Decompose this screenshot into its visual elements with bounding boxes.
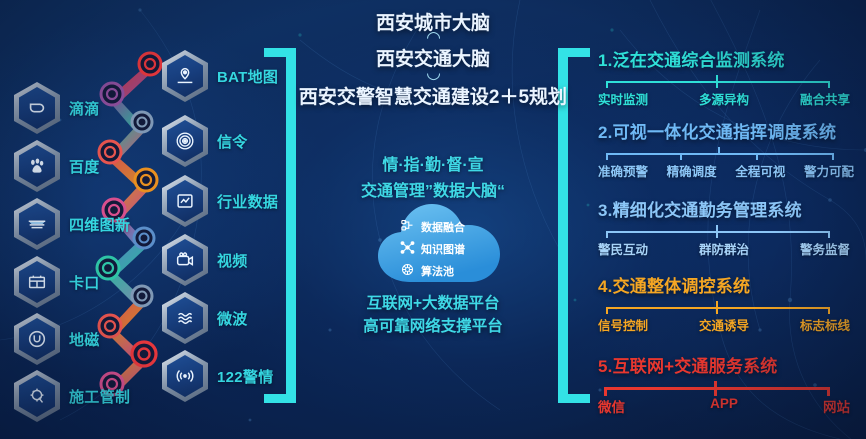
source-item-construction[interactable]: 施工管制 xyxy=(14,370,130,422)
sub-label: 网站 xyxy=(823,396,850,416)
system-name-1: 泛在交通综合监测系统 xyxy=(613,51,785,70)
algorithm-pool-icon xyxy=(400,262,415,277)
system-title-4: 4.交通整体调控系统 xyxy=(598,272,853,297)
sub-label: 精确调度 xyxy=(667,161,717,180)
video-camera-icon xyxy=(162,234,208,286)
system-subs-1: 实时监测 多源异构 融合共享 xyxy=(598,89,850,108)
source-item-122-alarm[interactable]: 122警情 xyxy=(162,350,274,402)
cloud-label-2: 算法池 xyxy=(421,263,454,279)
source-label: 信令 xyxy=(217,131,248,152)
system-number-4: 4. xyxy=(598,277,613,296)
system-name-4: 交通整体调控系统 xyxy=(613,277,751,296)
source-item-navinfo[interactable]: 四维图新 xyxy=(14,198,130,250)
connector-bracket-2 xyxy=(598,147,856,160)
connector-bracket-4 xyxy=(598,301,853,314)
connector-bracket-3 xyxy=(598,225,853,238)
sub-label: 交通诱导 xyxy=(699,315,749,334)
system-title-1: 1.泛在交通综合监测系统 xyxy=(598,46,853,71)
source-label: 四维图新 xyxy=(69,214,130,235)
system-name-3: 精细化交通勤务管理系统 xyxy=(613,201,802,220)
system-title-3: 3.精细化交通勤务管理系统 xyxy=(598,196,853,221)
knowledge-graph-icon xyxy=(400,240,415,255)
sub-label: 警力可配 xyxy=(804,161,854,180)
system-subs-3: 警民互动 群防群治 警务监督 xyxy=(598,239,850,258)
sub-label: 警民互动 xyxy=(598,239,648,258)
system-item-4[interactable]: 4.交通整体调控系统 信号控制 交通诱导 标志标线 xyxy=(598,272,853,334)
system-subs-4: 信号控制 交通诱导 标志标线 xyxy=(598,315,850,334)
source-item-video[interactable]: 视频 xyxy=(162,234,248,286)
cloud-label-0: 数据融合 xyxy=(421,219,465,235)
system-number-3: 3. xyxy=(598,201,613,220)
connector-bracket-1 xyxy=(598,75,853,88)
system-subs-5: 微信 APP 网站 xyxy=(598,396,850,416)
system-item-5[interactable]: 5.互联网+交通服务系统 微信 APP 网站 xyxy=(598,352,853,416)
navinfo-map-icon xyxy=(14,198,60,250)
sub-label: 准确预警 xyxy=(598,161,648,180)
cloud-label-1: 知识图谱 xyxy=(421,241,465,257)
system-name-5: 互联网+交通服务系统 xyxy=(613,357,778,376)
sub-label: 多源异构 xyxy=(699,89,749,108)
system-item-2[interactable]: 2.可视一体化交通指挥调度系统 准确预警 精确调度 全程可视 警力可配 xyxy=(598,118,856,180)
system-subs-2: 准确预警 精确调度 全程可视 警力可配 xyxy=(598,161,854,180)
system-number-1: 1. xyxy=(598,51,613,70)
system-title-2: 2.可视一体化交通指挥调度系统 xyxy=(598,118,856,143)
data-fusion-icon xyxy=(400,218,415,233)
infographic-canvas: 滴滴 百度 四维图新 卡口 地磁 施工管制 xyxy=(0,0,866,439)
sub-label: 群防群治 xyxy=(699,239,749,258)
sub-label: 实时监测 xyxy=(598,89,648,108)
source-label: 视频 xyxy=(217,250,248,271)
construction-control-icon xyxy=(14,370,60,422)
system-number-5: 5. xyxy=(598,357,613,376)
sub-label: 标志标线 xyxy=(800,315,850,334)
source-label: 122警情 xyxy=(217,366,274,387)
sub-label: APP xyxy=(710,396,738,416)
source-label: 卡口 xyxy=(69,272,100,293)
system-item-1[interactable]: 1.泛在交通综合监测系统 实时监测 多源异构 融合共享 xyxy=(598,46,853,108)
sub-label: 融合共享 xyxy=(800,89,850,108)
sub-label: 微信 xyxy=(598,396,625,416)
sub-label: 信号控制 xyxy=(598,315,648,334)
connector-bracket-5 xyxy=(598,381,853,394)
source-label: 施工管制 xyxy=(69,386,130,407)
system-item-3[interactable]: 3.精细化交通勤务管理系统 警民互动 群防群治 警务监督 xyxy=(598,196,853,258)
sub-label: 全程可视 xyxy=(735,161,785,180)
system-title-5: 5.互联网+交通服务系统 xyxy=(598,352,853,377)
system-number-2: 2. xyxy=(598,123,613,142)
sub-label: 警务监督 xyxy=(800,239,850,258)
system-name-2: 可视一体化交通指挥调度系统 xyxy=(613,123,837,142)
alarm-broadcast-icon xyxy=(162,350,208,402)
